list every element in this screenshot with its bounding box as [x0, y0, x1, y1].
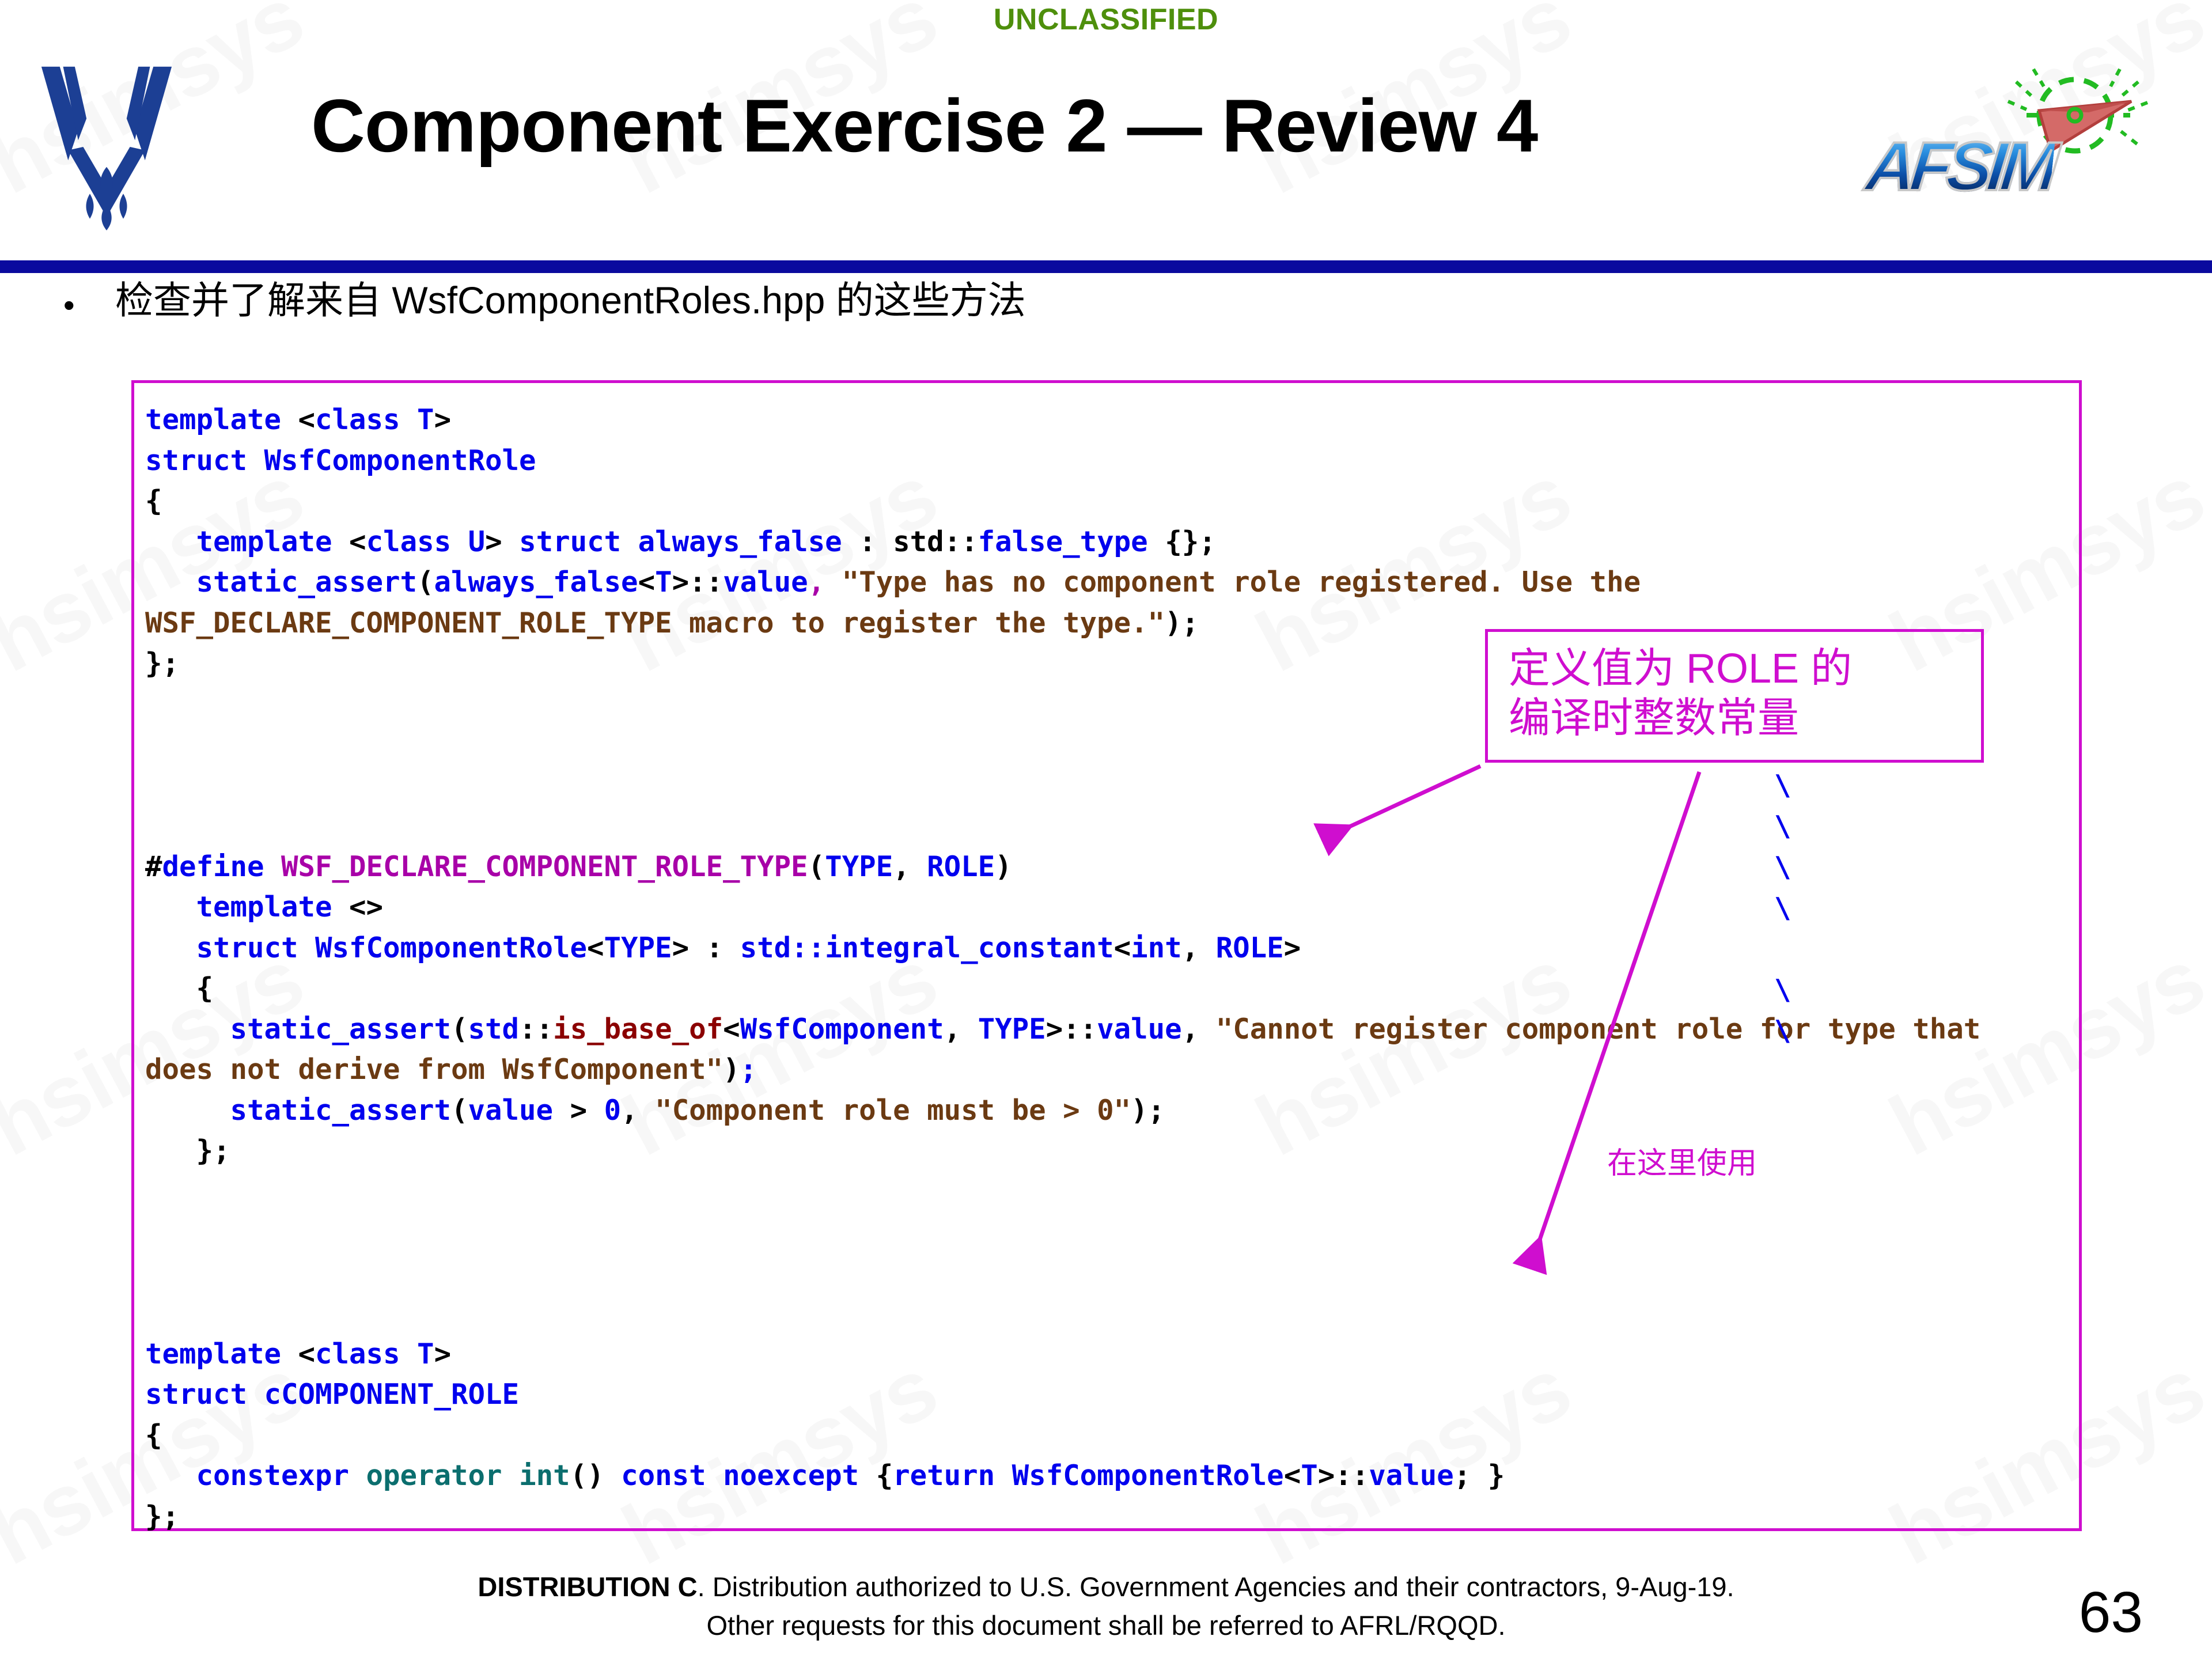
- page-number: 63: [2079, 1580, 2143, 1646]
- code-block: template <class T> struct WsfComponentRo…: [145, 400, 2196, 1537]
- continuation-backslash: \: [1774, 769, 1791, 802]
- bullet-marker: •: [63, 279, 115, 321]
- distribution-text: . Distribution authorized to U.S. Govern…: [698, 1571, 1734, 1602]
- callout-line-1: 定义值为 ROLE 的: [1509, 642, 1852, 696]
- callout-line-2: 编译时整数常量: [1509, 692, 1799, 746]
- air-force-symbol-logo: [23, 63, 190, 230]
- bullet-item: • 检查并了解来自 WsfComponentRoles.hpp 的这些方法: [63, 279, 2080, 323]
- footer: DISTRIBUTION C. Distribution authorized …: [0, 1568, 2212, 1645]
- afsim-logo: AFSIM: [1861, 58, 2183, 230]
- distribution-statement-line-2: Other requests for this document shall b…: [0, 1607, 2212, 1645]
- callout-box: 定义值为 ROLE 的 编译时整数常量: [1485, 629, 1984, 763]
- continuation-backslash: \: [1774, 1014, 1791, 1047]
- classification-banner: UNCLASSIFIED: [0, 2, 2212, 37]
- header-divider: [0, 260, 2212, 273]
- slide-header: Component Exercise 2 — Review 4 AFSIM: [0, 46, 2212, 253]
- distribution-label: DISTRIBUTION C: [478, 1571, 697, 1602]
- continuation-backslash: \: [1774, 810, 1791, 843]
- continuation-backslash: \: [1774, 974, 1791, 1006]
- continuation-backslash: \: [1774, 892, 1791, 925]
- continuation-backslash: \: [1774, 851, 1791, 884]
- page-title: Component Exercise 2 — Review 4: [311, 86, 1809, 165]
- distribution-statement-line-1: DISTRIBUTION C. Distribution authorized …: [0, 1568, 2212, 1607]
- use-here-label: 在这里使用: [1607, 1139, 1757, 1182]
- bullet-text: 检查并了解来自 WsfComponentRoles.hpp 的这些方法: [115, 279, 1026, 323]
- afsim-wordmark: AFSIM: [1862, 127, 2057, 206]
